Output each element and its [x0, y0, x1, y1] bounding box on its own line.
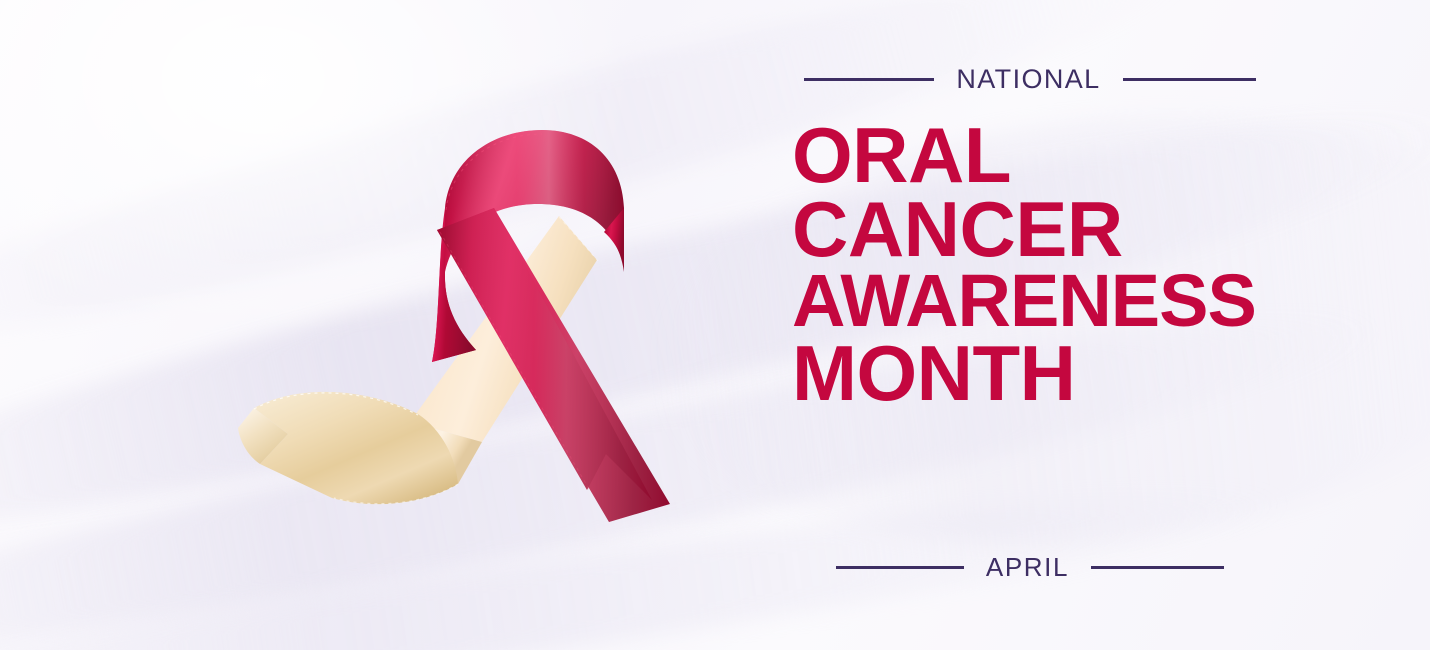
awareness-banner: NATIONAL ORAL CANCER AWARENESS MONTH APR…: [0, 0, 1430, 650]
text-content: NATIONAL ORAL CANCER AWARENESS MONTH APR…: [780, 0, 1300, 650]
eyebrow-row: NATIONAL: [780, 66, 1280, 93]
footer-label: APRIL: [986, 554, 1069, 580]
footer-rule-right: [1091, 566, 1224, 569]
eyebrow-rule-right: [1123, 78, 1256, 81]
eyebrow-label: NATIONAL: [956, 66, 1100, 93]
headline-line-1: ORAL: [792, 118, 1312, 192]
awareness-ribbon-icon: [232, 112, 692, 522]
headline-line-3: AWARENESS: [792, 266, 1312, 336]
headline-line-2: CANCER: [792, 192, 1312, 266]
footer-rule-left: [836, 566, 964, 569]
page-title: ORAL CANCER AWARENESS MONTH: [792, 118, 1312, 411]
footer-row: APRIL: [780, 554, 1280, 580]
headline-line-4: MONTH: [792, 336, 1312, 410]
eyebrow-rule-left: [804, 78, 934, 81]
